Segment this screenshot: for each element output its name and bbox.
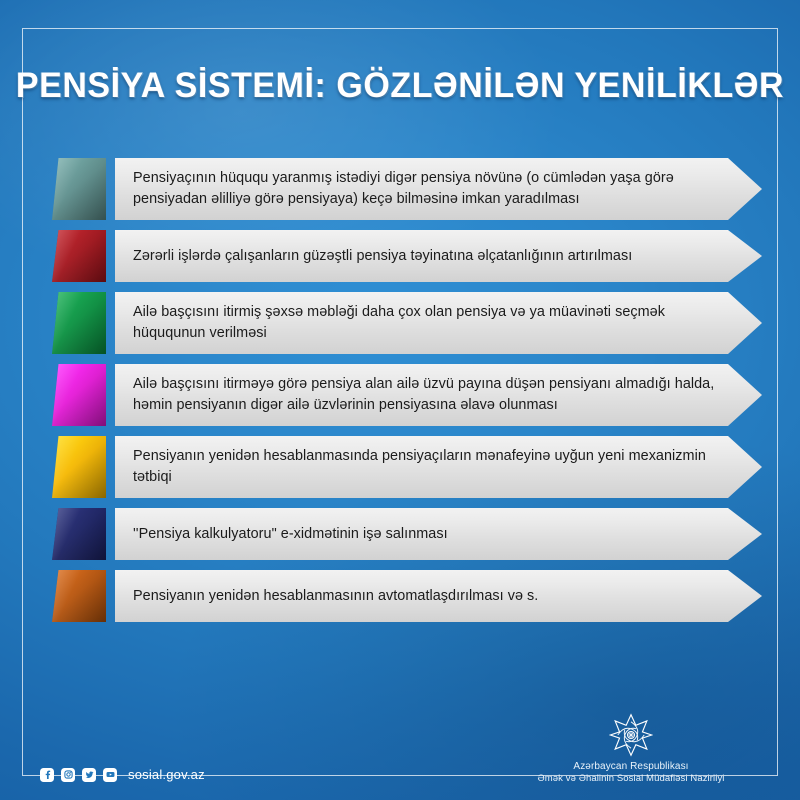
page-title: PENSİYA SİSTEMİ: GÖZLƏNİLƏN YENİLİKLƏR [16, 68, 784, 103]
color-tab-teal-slate [52, 158, 106, 220]
bar-content: Pensiyanın yenidən hesablanmasının avtom… [115, 586, 762, 607]
facebook-icon[interactable] [40, 768, 54, 782]
twitter-icon[interactable] [82, 768, 96, 782]
footer-social: sosial.gov.az [40, 767, 205, 782]
list-item-text: Pensiyanın yenidən hesablanmasının avtom… [133, 586, 716, 607]
chevron-bar: Ailə başçısını itirmiş şəxsə məbləği dah… [115, 292, 762, 354]
website-url[interactable]: sosial.gov.az [128, 767, 205, 782]
list-item-text: Ailə başçısını itirməyə görə pensiya ala… [133, 374, 716, 416]
instagram-icon[interactable] [61, 768, 75, 782]
list-item: Pensiyanın yenidən hesablanmasında pensi… [52, 436, 762, 498]
ministry-line-1: Azərbaycan Respublikası [506, 760, 756, 773]
list-item: Ailə başçısını itirmiş şəxsə məbləği dah… [52, 292, 762, 354]
list-item-text: Zərərli işlərdə çalışanların güzəştli pe… [133, 246, 716, 267]
list-item: Zərərli işlərdə çalışanların güzəştli pe… [52, 230, 762, 282]
ministry-line-2: Əmək və Əhalinin Sosial Müdafiəsi Nazirl… [506, 773, 756, 786]
list-item-text: Ailə başçısını itirmiş şəxsə məbləği dah… [133, 302, 716, 344]
footer-ministry: Azərbaycan Respublikası Əmək və Əhalinin… [506, 713, 756, 786]
chevron-bar: Pensiyaçının hüququ yaranmış istədiyi di… [115, 158, 762, 220]
bar-content: Ailə başçısını itirmiş şəxsə məbləği dah… [115, 302, 762, 344]
bar-content: Ailə başçısını itirməyə görə pensiya ala… [115, 374, 762, 416]
chevron-bar: Pensiyanın yenidən hesablanmasında pensi… [115, 436, 762, 498]
innovation-list: Pensiyaçının hüququ yaranmış istədiyi di… [52, 158, 762, 632]
color-tab-magenta [52, 364, 106, 426]
color-tab-dark-red [52, 230, 106, 282]
list-item: Ailə başçısını itirməyə görə pensiya ala… [52, 364, 762, 426]
bar-content: Pensiyanın yenidən hesablanmasında pensi… [115, 446, 762, 488]
chevron-bar: Ailə başçısını itirməyə görə pensiya ala… [115, 364, 762, 426]
chevron-bar: ''Pensiya kalkulyatoru" e-xidmətinin işə… [115, 508, 762, 560]
bar-content: ''Pensiya kalkulyatoru" e-xidmətinin işə… [115, 524, 762, 545]
list-item: ''Pensiya kalkulyatoru" e-xidmətinin işə… [52, 508, 762, 560]
color-tab-orange-brown [52, 570, 106, 622]
color-tab-navy [52, 508, 106, 560]
bar-content: Pensiyaçının hüququ yaranmış istədiyi di… [115, 168, 762, 210]
chevron-bar: Zərərli işlərdə çalışanların güzəştli pe… [115, 230, 762, 282]
list-item-text: Pensiyanın yenidən hesablanmasında pensi… [133, 446, 716, 488]
list-item-text: Pensiyaçının hüququ yaranmış istədiyi di… [133, 168, 716, 210]
eight-pointed-star-logo [609, 713, 653, 757]
color-tab-green [52, 292, 106, 354]
color-tab-gold [52, 436, 106, 498]
list-item: Pensiyanın yenidən hesablanmasının avtom… [52, 570, 762, 622]
list-item: Pensiyaçının hüququ yaranmış istədiyi di… [52, 158, 762, 220]
list-item-text: ''Pensiya kalkulyatoru" e-xidmətinin işə… [133, 524, 716, 545]
page-title-container: PENSİYA SİSTEMİ: GÖZLƏNİLƏN YENİLİKLƏR [0, 68, 800, 103]
bar-content: Zərərli işlərdə çalışanların güzəştli pe… [115, 246, 762, 267]
chevron-bar: Pensiyanın yenidən hesablanmasının avtom… [115, 570, 762, 622]
youtube-icon[interactable] [103, 768, 117, 782]
